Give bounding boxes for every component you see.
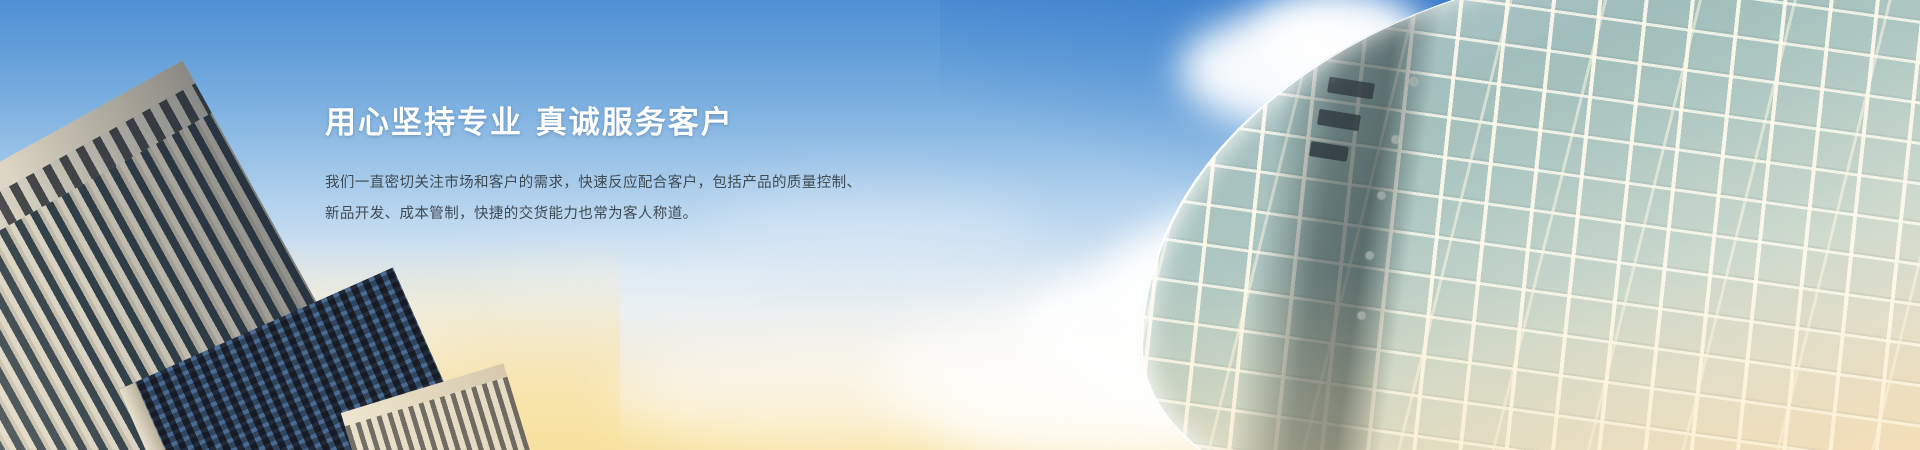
banner-body-text: 我们一直密切关注市场和客户的需求，快速反应配合客户，包括产品的质量控制、 新品开… <box>325 168 1045 230</box>
banner-copy-block: 用心坚持专业 真诚服务客户 我们一直密切关注市场和客户的需求，快速反应配合客户，… <box>325 105 1045 230</box>
cloud-wisp-left <box>480 250 780 310</box>
banner-body-line-2: 新品开发、成本管制，快捷的交货能力也常为客人称道。 <box>325 199 1045 230</box>
hero-banner: 用心坚持专业 真诚服务客户 我们一直密切关注市场和客户的需求，快速反应配合客户，… <box>0 0 1920 450</box>
right-curved-glass-tower <box>1120 0 1920 450</box>
banner-body-line-1: 我们一直密切关注市场和客户的需求，快速反应配合客户，包括产品的质量控制、 <box>325 168 1045 199</box>
banner-headline: 用心坚持专业 真诚服务客户 <box>325 105 1045 142</box>
